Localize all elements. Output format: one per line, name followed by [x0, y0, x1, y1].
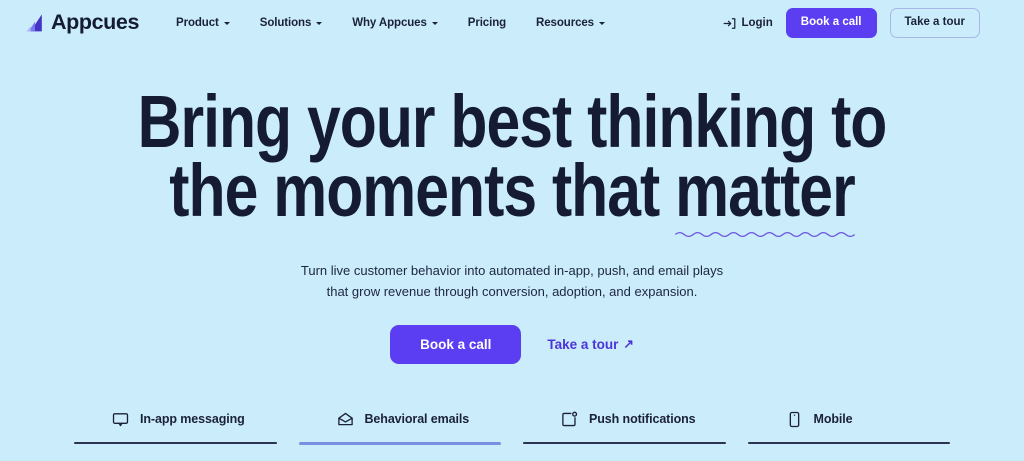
open-envelope-icon	[337, 411, 354, 428]
nav-item-pricing[interactable]: Pricing	[453, 11, 521, 35]
spacer	[74, 444, 277, 460]
feature-tab-mobile[interactable]: Mobile	[748, 401, 951, 461]
nav-actions: Login Book a call Take a tour	[723, 8, 980, 37]
headline-emphasis-word: matter	[675, 157, 855, 226]
spacer	[299, 445, 502, 461]
chevron-down-icon	[432, 22, 438, 25]
wavy-underline-icon	[675, 230, 855, 239]
feature-tab-label: Behavioral emails	[365, 412, 470, 426]
mobile-phone-icon	[786, 411, 803, 428]
headline-emphasis-text: matter	[675, 149, 855, 232]
feature-tab-push-notifications[interactable]: Push notifications	[523, 401, 726, 461]
feature-tab-content: Push notifications	[523, 401, 726, 437]
hero-section: Bring your best thinking to the moments …	[0, 46, 1024, 364]
feature-tab-label: In-app messaging	[140, 412, 245, 426]
feature-tab-in-app-messaging[interactable]: In-app messaging	[74, 401, 277, 461]
take-a-tour-link-label: Take a tour	[547, 337, 618, 352]
subhead-line-1: Turn live customer behavior into automat…	[0, 260, 1024, 281]
book-a-call-button-nav[interactable]: Book a call	[786, 8, 877, 37]
spacer	[748, 444, 951, 460]
chevron-down-icon	[316, 22, 322, 25]
spacer	[523, 444, 726, 460]
appcues-logo-icon	[24, 12, 46, 34]
feature-tab-label: Mobile	[814, 412, 853, 426]
chevron-down-icon	[599, 22, 605, 25]
take-a-tour-link-hero[interactable]: Take a tour ↗	[547, 337, 634, 352]
login-label: Login	[741, 17, 772, 29]
feature-tab-content: Mobile	[748, 401, 951, 437]
hero-cta-row: Book a call Take a tour ↗	[0, 325, 1024, 364]
chat-bubble-icon	[112, 411, 129, 428]
headline-line-2: the moments that matter	[92, 157, 932, 226]
feature-tab-label: Push notifications	[589, 412, 696, 426]
appcues-brand-logo[interactable]: Appcues	[24, 12, 139, 34]
headline-line-2-text: the moments that	[169, 149, 675, 232]
nav-links: Product Solutions Why Appcues Pricing Re…	[161, 11, 620, 35]
headline-line-1: Bring your best thinking to	[92, 88, 932, 157]
login-link[interactable]: Login	[723, 17, 772, 30]
take-a-tour-button-nav[interactable]: Take a tour	[890, 8, 981, 37]
nav-item-solutions[interactable]: Solutions	[245, 11, 338, 35]
feature-tab-content: In-app messaging	[74, 401, 277, 437]
login-arrow-icon	[723, 17, 736, 30]
brand-name-label: Appcues	[51, 12, 139, 34]
feature-tab-bar: In-app messaging Behavioral emails	[74, 401, 950, 461]
arrow-up-right-icon: ↗	[623, 338, 633, 351]
feature-tab-content: Behavioral emails	[299, 401, 502, 437]
nav-item-product-label: Product	[176, 17, 219, 29]
subhead-line-2: that grow revenue through conversion, ad…	[0, 281, 1024, 302]
nav-item-resources-label: Resources	[536, 17, 594, 29]
chevron-down-icon	[224, 22, 230, 25]
page-title: Bring your best thinking to the moments …	[92, 88, 932, 226]
nav-item-resources[interactable]: Resources	[521, 11, 620, 35]
nav-item-why-appcues-label: Why Appcues	[352, 17, 427, 29]
feature-tab-behavioral-emails[interactable]: Behavioral emails	[299, 401, 502, 461]
push-square-icon	[561, 411, 578, 428]
hero-subheadline: Turn live customer behavior into automat…	[0, 260, 1024, 302]
book-a-call-button-hero[interactable]: Book a call	[390, 325, 521, 364]
top-navigation-bar: Appcues Product Solutions Why Appcues Pr…	[0, 0, 1024, 46]
nav-item-why-appcues[interactable]: Why Appcues	[337, 11, 453, 35]
nav-item-pricing-label: Pricing	[468, 17, 506, 29]
nav-item-product[interactable]: Product	[161, 11, 245, 35]
nav-item-solutions-label: Solutions	[260, 17, 312, 29]
landing-page: Appcues Product Solutions Why Appcues Pr…	[0, 0, 1024, 461]
